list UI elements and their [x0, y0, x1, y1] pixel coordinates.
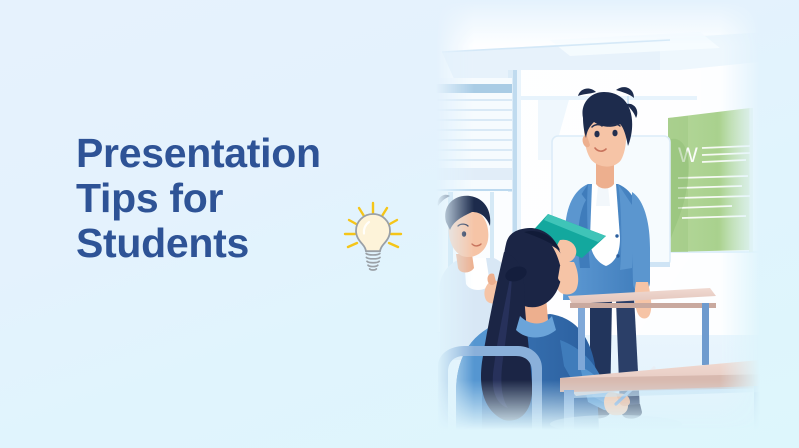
title-line-1: Presentation: [76, 131, 376, 176]
slide-canvas: Presentation Tips for Students: [0, 0, 799, 448]
title-line-3: Students: [76, 221, 376, 266]
lightbulb-icon: [339, 200, 409, 278]
title-line-2: Tips for: [76, 176, 376, 221]
page-title: Presentation Tips for Students: [76, 131, 376, 266]
classroom-presentation-illustration: W: [420, 0, 799, 448]
